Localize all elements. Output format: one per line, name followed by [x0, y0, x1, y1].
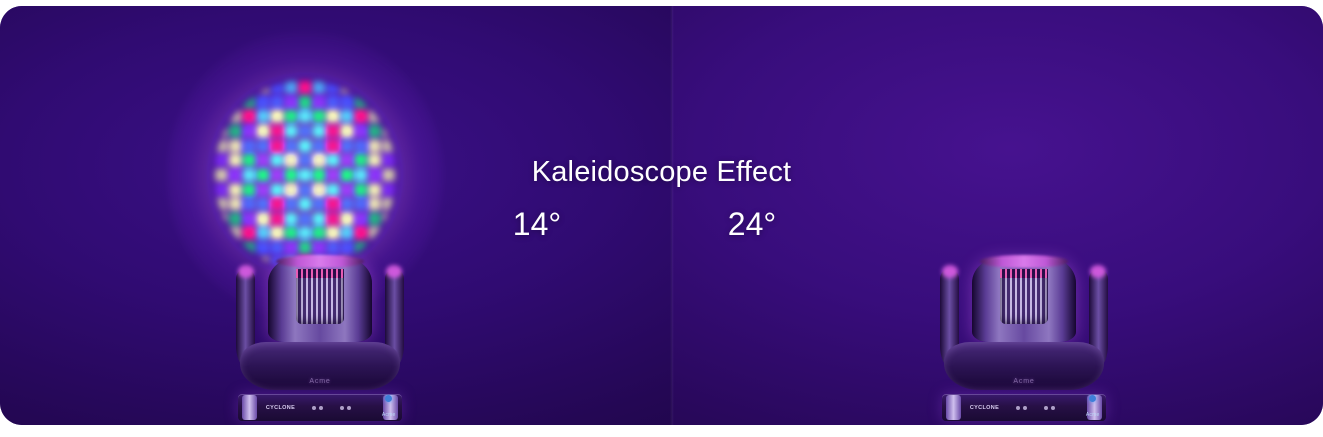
kaleidoscope-cell: [271, 198, 282, 210]
kaleidoscope-cell: [257, 227, 268, 239]
moving-head-fixture-right: Acme CYCLONE Acme: [942, 258, 1106, 425]
led-dot-icon: [1023, 406, 1027, 410]
kaleidoscope-cell: [243, 96, 254, 108]
kaleidoscope-cell: [257, 242, 268, 254]
kaleidoscope-cell: [383, 198, 394, 210]
kaleidoscope-cell: [355, 110, 366, 122]
kaleidoscope-cell: [341, 110, 352, 122]
kaleidoscope-cell: [327, 140, 338, 152]
kaleidoscope-cell: [257, 81, 268, 93]
kaleidoscope-cell: [369, 198, 380, 210]
kaleidoscope-cell: [215, 242, 226, 254]
kaleidoscope-cell: [341, 96, 352, 108]
kaleidoscope-cell: [327, 242, 338, 254]
kaleidoscope-cell: [383, 227, 394, 239]
kaleidoscope-cell: [215, 257, 226, 269]
kaleidoscope-cell: [229, 227, 240, 239]
kaleidoscope-cell: [369, 110, 380, 122]
kaleidoscope-cell: [257, 125, 268, 137]
beam-angle-right: 24°: [682, 206, 822, 243]
kaleidoscope-cell: [285, 242, 296, 254]
kaleidoscope-cell: [341, 242, 352, 254]
fixture-led-array-left: [296, 269, 344, 324]
kaleidoscope-cell: [271, 96, 282, 108]
kaleidoscope-cell: [257, 213, 268, 225]
kaleidoscope-cell: [271, 81, 282, 93]
kaleidoscope-cell: [271, 213, 282, 225]
kaleidoscope-cell: [355, 125, 366, 137]
kaleidoscope-cell: [271, 110, 282, 122]
kaleidoscope-cell: [383, 242, 394, 254]
fixture-head-right: [972, 258, 1076, 342]
kaleidoscope-cell: [285, 198, 296, 210]
fixture-base-leds-right-b: [1044, 406, 1055, 410]
kaleidoscope-cell: [383, 140, 394, 152]
led-dot-icon: [312, 406, 316, 410]
kaleidoscope-cell: [215, 125, 226, 137]
product-feature-image: Acme CYCLONE Acme: [0, 0, 1323, 437]
caption-title: Kaleidoscope Effect: [0, 156, 1323, 189]
fixture-led-array-right: [1000, 269, 1048, 324]
kaleidoscope-cell: [243, 198, 254, 210]
kaleidoscope-cell: [383, 110, 394, 122]
kaleidoscope-cell: [341, 227, 352, 239]
moving-head-fixture-left: Acme CYCLONE Acme: [238, 258, 402, 425]
kaleidoscope-cell: [215, 81, 226, 93]
kaleidoscope-cell: [313, 110, 324, 122]
kaleidoscope-cell: [355, 96, 366, 108]
kaleidoscope-cell: [327, 81, 338, 93]
kaleidoscope-cell: [299, 110, 310, 122]
fixture-yoke-right: Acme: [944, 342, 1105, 390]
kaleidoscope-cell: [215, 140, 226, 152]
kaleidoscope-cell: [369, 140, 380, 152]
kaleidoscope-cell: [313, 81, 324, 93]
kaleidoscope-cell: [327, 198, 338, 210]
acme-dot-logo-icon: [385, 395, 392, 402]
kaleidoscope-cell: [355, 198, 366, 210]
kaleidoscope-cell: [369, 96, 380, 108]
kaleidoscope-cell: [257, 140, 268, 152]
fixture-base-post-right-l: [946, 395, 961, 420]
kaleidoscope-cell: [355, 140, 366, 152]
kaleidoscope-cell: [327, 125, 338, 137]
kaleidoscope-cell: [369, 213, 380, 225]
kaleidoscope-cell: [327, 96, 338, 108]
kaleidoscope-cell: [243, 242, 254, 254]
kaleidoscope-cell: [257, 110, 268, 122]
fixture-base-right: CYCLONE Acme: [942, 394, 1106, 421]
kaleidoscope-cell: [229, 213, 240, 225]
kaleidoscope-cell: [313, 125, 324, 137]
kaleidoscope-cell: [299, 213, 310, 225]
led-dot-icon: [347, 406, 351, 410]
kaleidoscope-cell: [229, 242, 240, 254]
kaleidoscope-cell: [383, 96, 394, 108]
kaleidoscope-cell: [313, 198, 324, 210]
fixture-yoke-left: Acme: [240, 342, 401, 390]
kaleidoscope-cell: [327, 110, 338, 122]
kaleidoscope-cell: [299, 81, 310, 93]
kaleidoscope-cell: [285, 125, 296, 137]
kaleidoscope-cell: [229, 96, 240, 108]
kaleidoscope-cell: [313, 227, 324, 239]
kaleidoscope-cell: [383, 81, 394, 93]
fixture-head-etch-left: Acme: [240, 378, 401, 385]
fixture-base-post-left-l: [242, 395, 257, 420]
led-dot-icon: [1016, 406, 1020, 410]
kaleidoscope-cell: [285, 227, 296, 239]
kaleidoscope-cell: [229, 81, 240, 93]
beam-angle-left: 14°: [467, 206, 607, 243]
kaleidoscope-cell: [215, 110, 226, 122]
kaleidoscope-cell: [299, 140, 310, 152]
fixture-logo-right: Acme: [1086, 395, 1100, 421]
kaleidoscope-cell: [229, 110, 240, 122]
kaleidoscope-cell: [355, 227, 366, 239]
fixture-lens-rim-left: [276, 255, 363, 268]
fixture-head-left: [268, 258, 372, 342]
fixture-base-left: CYCLONE Acme: [238, 394, 402, 421]
kaleidoscope-cell: [299, 125, 310, 137]
led-dot-icon: [1044, 406, 1048, 410]
fixture-lens-rim-right: [980, 255, 1067, 268]
kaleidoscope-cell: [243, 213, 254, 225]
kaleidoscope-cell: [383, 125, 394, 137]
kaleidoscope-cell: [285, 81, 296, 93]
kaleidoscope-cell: [299, 242, 310, 254]
led-dot-icon: [319, 406, 323, 410]
kaleidoscope-cell: [215, 227, 226, 239]
kaleidoscope-cell: [257, 198, 268, 210]
kaleidoscope-cell: [369, 242, 380, 254]
kaleidoscope-cell: [355, 213, 366, 225]
kaleidoscope-cell: [327, 213, 338, 225]
kaleidoscope-cell: [313, 140, 324, 152]
led-dot-icon: [1051, 406, 1055, 410]
kaleidoscope-cell: [229, 140, 240, 152]
acme-dot-logo-icon: [1089, 395, 1096, 402]
photo-card: Acme CYCLONE Acme: [0, 6, 1323, 425]
kaleidoscope-cell: [369, 125, 380, 137]
kaleidoscope-cell: [341, 198, 352, 210]
fixture-base-leds-left-b: [340, 406, 351, 410]
kaleidoscope-cell: [215, 96, 226, 108]
kaleidoscope-cell: [341, 81, 352, 93]
kaleidoscope-cell: [341, 213, 352, 225]
kaleidoscope-cell: [229, 125, 240, 137]
kaleidoscope-cell: [383, 213, 394, 225]
kaleidoscope-cell: [229, 198, 240, 210]
fixture-brand-label-right: CYCLONE: [970, 405, 999, 411]
kaleidoscope-cell: [369, 81, 380, 93]
kaleidoscope-cell: [271, 242, 282, 254]
kaleidoscope-cell: [285, 96, 296, 108]
fixture-brand-label-left: CYCLONE: [266, 405, 295, 411]
kaleidoscope-cell: [313, 96, 324, 108]
kaleidoscope-cell: [355, 81, 366, 93]
kaleidoscope-cell: [313, 242, 324, 254]
kaleidoscope-cell: [299, 227, 310, 239]
kaleidoscope-cell: [243, 227, 254, 239]
kaleidoscope-cell: [243, 125, 254, 137]
kaleidoscope-cell: [243, 110, 254, 122]
kaleidoscope-cell: [355, 242, 366, 254]
kaleidoscope-cell: [285, 140, 296, 152]
fixture-base-leds-right-a: [1016, 406, 1027, 410]
kaleidoscope-cell: [257, 96, 268, 108]
kaleidoscope-cell: [299, 198, 310, 210]
kaleidoscope-cell: [215, 198, 226, 210]
led-dot-icon: [340, 406, 344, 410]
kaleidoscope-cell: [271, 140, 282, 152]
kaleidoscope-cell: [243, 81, 254, 93]
kaleidoscope-cell: [271, 227, 282, 239]
kaleidoscope-cell: [285, 213, 296, 225]
kaleidoscope-cell: [243, 140, 254, 152]
fixture-base-leds-left-a: [312, 406, 323, 410]
fixture-head-etch-right: Acme: [944, 378, 1105, 385]
kaleidoscope-cell: [313, 213, 324, 225]
kaleidoscope-cell: [341, 140, 352, 152]
kaleidoscope-cell: [271, 125, 282, 137]
fixture-logo-left: Acme: [382, 395, 396, 421]
kaleidoscope-cell: [341, 125, 352, 137]
kaleidoscope-cell: [327, 227, 338, 239]
kaleidoscope-cell: [215, 213, 226, 225]
kaleidoscope-cell: [369, 227, 380, 239]
kaleidoscope-cell: [285, 110, 296, 122]
kaleidoscope-cell: [299, 96, 310, 108]
